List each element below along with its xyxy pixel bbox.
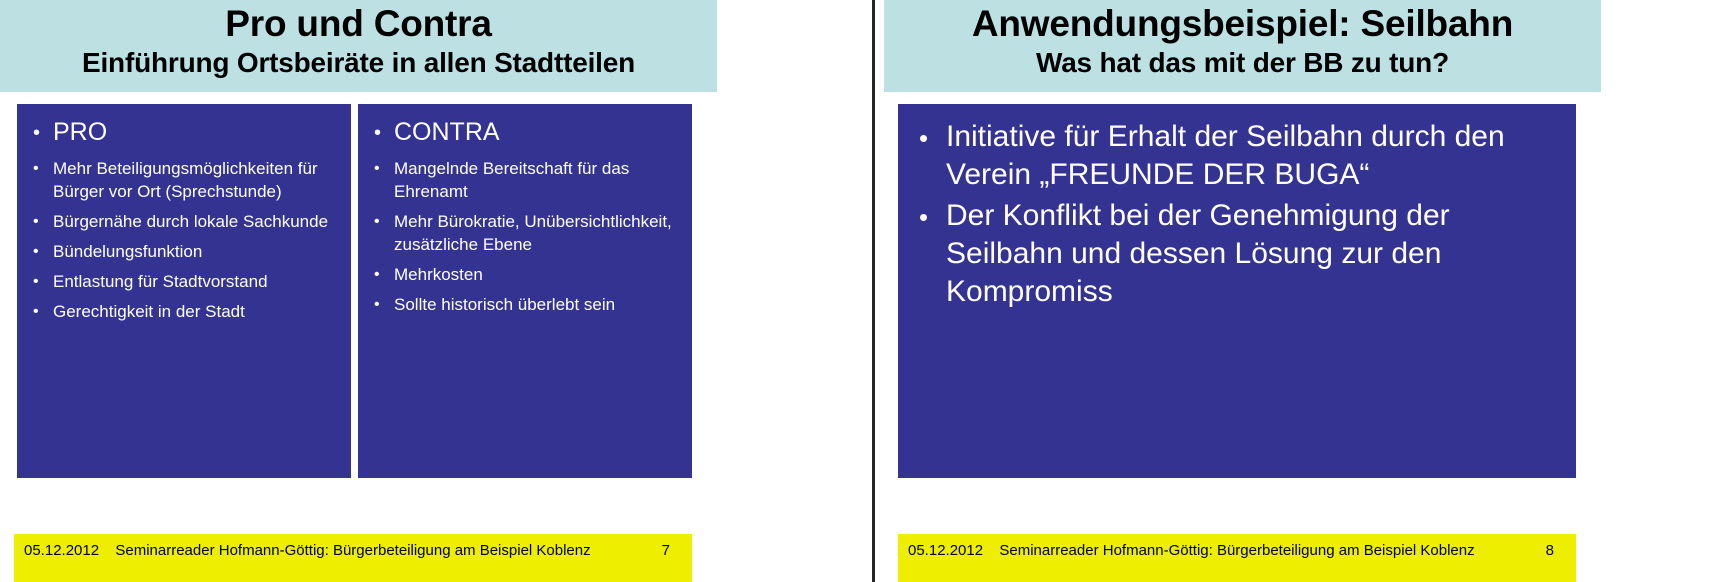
content-box-contra: CONTRA Mangelnde Bereitschaft für das Eh… [358, 104, 692, 478]
footer-page-number: 8 [1546, 542, 1554, 559]
slide-title-band: Pro und Contra Einführung Ortsbeiräte in… [0, 0, 717, 92]
content-box-seilbahn: Initiative für Erhalt der Seilbahn durch… [898, 104, 1576, 478]
slide-anwendungsbeispiel-seilbahn: Anwendungsbeispiel: Seilbahn Was hat das… [884, 0, 1646, 582]
bullet-list-contra: CONTRA Mangelnde Bereitschaft für das Eh… [358, 104, 692, 316]
slide-title-main: Anwendungsbeispiel: Seilbahn [884, 2, 1601, 46]
slide-title-band: Anwendungsbeispiel: Seilbahn Was hat das… [884, 0, 1601, 92]
list-item: Entlastung für Stadtvorstand [25, 270, 345, 293]
slide-title-subtitle: Was hat das mit der BB zu tun? [884, 46, 1601, 80]
list-item: Sollte historisch überlebt sein [366, 293, 686, 316]
list-item: Mehrkosten [366, 263, 686, 286]
slide-footer: 05.12.2012 Seminarreader Hofmann-Göttig:… [898, 534, 1576, 582]
slide-divider [872, 0, 875, 582]
slide-title-subtitle: Einführung Ortsbeiräte in allen Stadttei… [0, 46, 717, 80]
footer-title: Seminarreader Hofmann-Göttig: Bürgerbete… [898, 542, 1576, 559]
list-item: Der Konflikt bei der Genehmigung der Sei… [910, 197, 1566, 311]
list-item: Mehr Beteiligungsmöglichkeiten für Bürge… [25, 157, 345, 203]
slide-handout-page: Pro und Contra Einführung Ortsbeiräte in… [0, 0, 1728, 582]
list-item: PRO [25, 117, 345, 148]
slide-title-main: Pro und Contra [0, 2, 717, 46]
list-item: Gerechtigkeit in der Stadt [25, 300, 345, 323]
list-item: Mehr Bürokratie, Unübersichtlichkeit, zu… [366, 210, 686, 256]
footer-page-number: 7 [662, 542, 670, 559]
list-item: Initiative für Erhalt der Seilbahn durch… [910, 118, 1566, 194]
slide-footer: 05.12.2012 Seminarreader Hofmann-Göttig:… [14, 534, 692, 582]
list-item: Mangelnde Bereitschaft für das Ehrenamt [366, 157, 686, 203]
list-item: Bürgernähe durch lokale Sachkunde [25, 210, 345, 233]
footer-title: Seminarreader Hofmann-Göttig: Bürgerbete… [14, 542, 692, 559]
list-item: CONTRA [366, 117, 686, 148]
bullet-list-pro: PRO Mehr Beteiligungsmöglichkeiten für B… [17, 104, 351, 323]
bullet-list-seilbahn: Initiative für Erhalt der Seilbahn durch… [898, 104, 1576, 311]
slide-pro-und-contra: Pro und Contra Einführung Ortsbeiräte in… [0, 0, 762, 582]
list-item: Bündelungsfunktion [25, 240, 345, 263]
content-box-pro: PRO Mehr Beteiligungsmöglichkeiten für B… [17, 104, 351, 478]
